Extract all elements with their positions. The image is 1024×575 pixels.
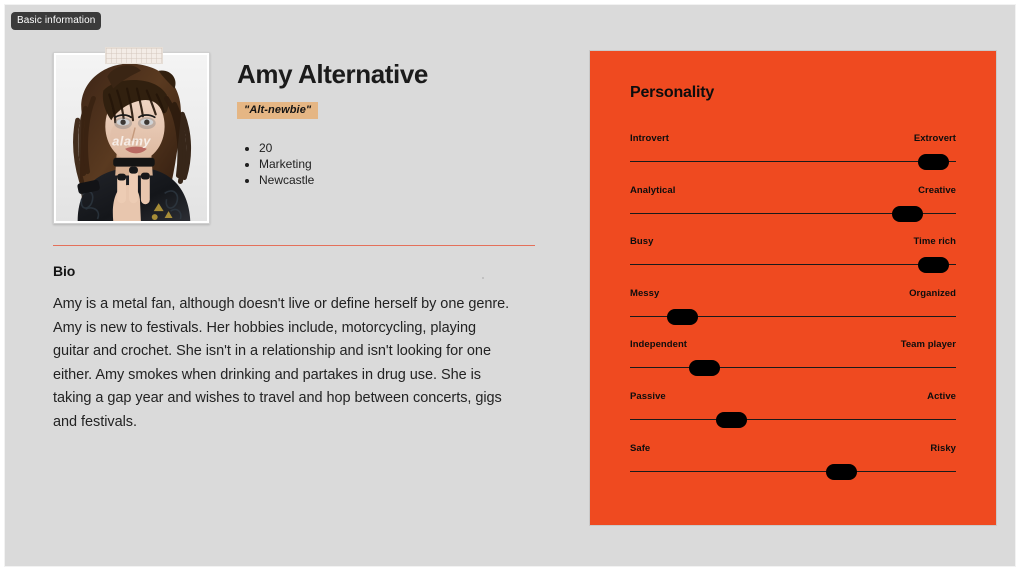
slider-labels: Busy Time rich (630, 236, 956, 247)
list-item: Marketing (259, 157, 543, 172)
slider-right-label: Time rich (913, 236, 956, 247)
slider-labels: Introvert Extrovert (630, 133, 956, 144)
profile-facts-list: 20 Marketing Newcastle (237, 141, 543, 188)
slider-row-analytical-creative: Analytical Creative (630, 185, 956, 237)
bio-heading: Bio (53, 263, 543, 279)
slider-labels: Analytical Creative (630, 185, 956, 196)
slider-thumb[interactable] (918, 154, 949, 170)
slider-row-messy-organized: Messy Organized (630, 288, 956, 340)
slider-track-wrap[interactable] (630, 309, 956, 325)
slider-row-busy-timerich: Busy Time rich (630, 236, 956, 288)
slider-track (630, 471, 956, 472)
persona-quote-chip: "Alt-newbie" (237, 102, 318, 119)
slider-thumb[interactable] (918, 257, 949, 273)
slider-row-independent-teamplayer: Independent Team player (630, 339, 956, 391)
slider-right-label: Active (927, 391, 956, 402)
slider-track (630, 264, 956, 265)
slider-right-label: Risky (930, 443, 956, 454)
slider-left-label: Analytical (630, 185, 675, 196)
basic-information-column: alamy Amy Alternative "Alt-newbie" 20 Ma… (53, 49, 543, 434)
slider-left-label: Independent (630, 339, 687, 350)
slider-row-safe-risky: Safe Risky (630, 443, 956, 495)
portrait-illustration (56, 55, 207, 221)
persona-canvas: Basic information (4, 4, 1016, 567)
slider-left-label: Passive (630, 391, 666, 402)
slider-left-label: Busy (630, 236, 653, 247)
cream-tape-strip (105, 47, 163, 64)
persona-photo-frame[interactable]: alamy (53, 52, 210, 224)
quote-wrapper: "Alt-newbie" (237, 100, 543, 119)
slider-track (630, 367, 956, 368)
list-item: 20 (259, 141, 543, 156)
slider-left-label: Safe (630, 443, 650, 454)
slider-right-label: Extrovert (914, 133, 956, 144)
slider-track-wrap[interactable] (630, 412, 956, 428)
slider-labels: Passive Active (630, 391, 956, 402)
slider-right-label: Creative (918, 185, 956, 196)
slider-labels: Safe Risky (630, 443, 956, 454)
slider-left-label: Messy (630, 288, 659, 299)
slider-row-introvert-extrovert: Introvert Extrovert (630, 133, 956, 185)
page-title: Amy Alternative (237, 59, 543, 89)
personality-sliders: Introvert Extrovert Analytical Creative (630, 133, 956, 494)
dust-speck (482, 277, 484, 279)
slider-left-label: Introvert (630, 133, 669, 144)
slider-thumb[interactable] (716, 412, 747, 428)
slider-track (630, 419, 956, 420)
slider-right-label: Team player (901, 339, 956, 350)
profile-text-block: Amy Alternative "Alt-newbie" 20 Marketin… (237, 59, 543, 189)
slider-thumb[interactable] (826, 464, 857, 480)
slider-thumb[interactable] (892, 206, 923, 222)
slider-labels: Independent Team player (630, 339, 956, 350)
slider-right-label: Organized (909, 288, 956, 299)
profile-row: alamy Amy Alternative "Alt-newbie" 20 Ma… (53, 49, 543, 229)
bio-text: Amy is a metal fan, although doesn't liv… (53, 293, 515, 434)
slider-labels: Messy Organized (630, 288, 956, 299)
slider-thumb[interactable] (689, 360, 720, 376)
personality-title: Personality (630, 84, 714, 102)
personality-panel: Personality Introvert Extrovert Analytic… (589, 50, 997, 526)
slider-track-wrap[interactable] (630, 154, 956, 170)
section-divider (53, 245, 535, 246)
slider-track (630, 161, 956, 162)
slider-row-passive-active: Passive Active (630, 391, 956, 443)
slider-track-wrap[interactable] (630, 257, 956, 273)
persona-portrait-image: alamy (56, 55, 207, 221)
section-badge[interactable]: Basic information (11, 12, 101, 30)
slider-thumb[interactable] (667, 309, 698, 325)
list-item: Newcastle (259, 173, 543, 188)
slider-track-wrap[interactable] (630, 206, 956, 222)
slider-track-wrap[interactable] (630, 360, 956, 376)
slider-track-wrap[interactable] (630, 464, 956, 480)
